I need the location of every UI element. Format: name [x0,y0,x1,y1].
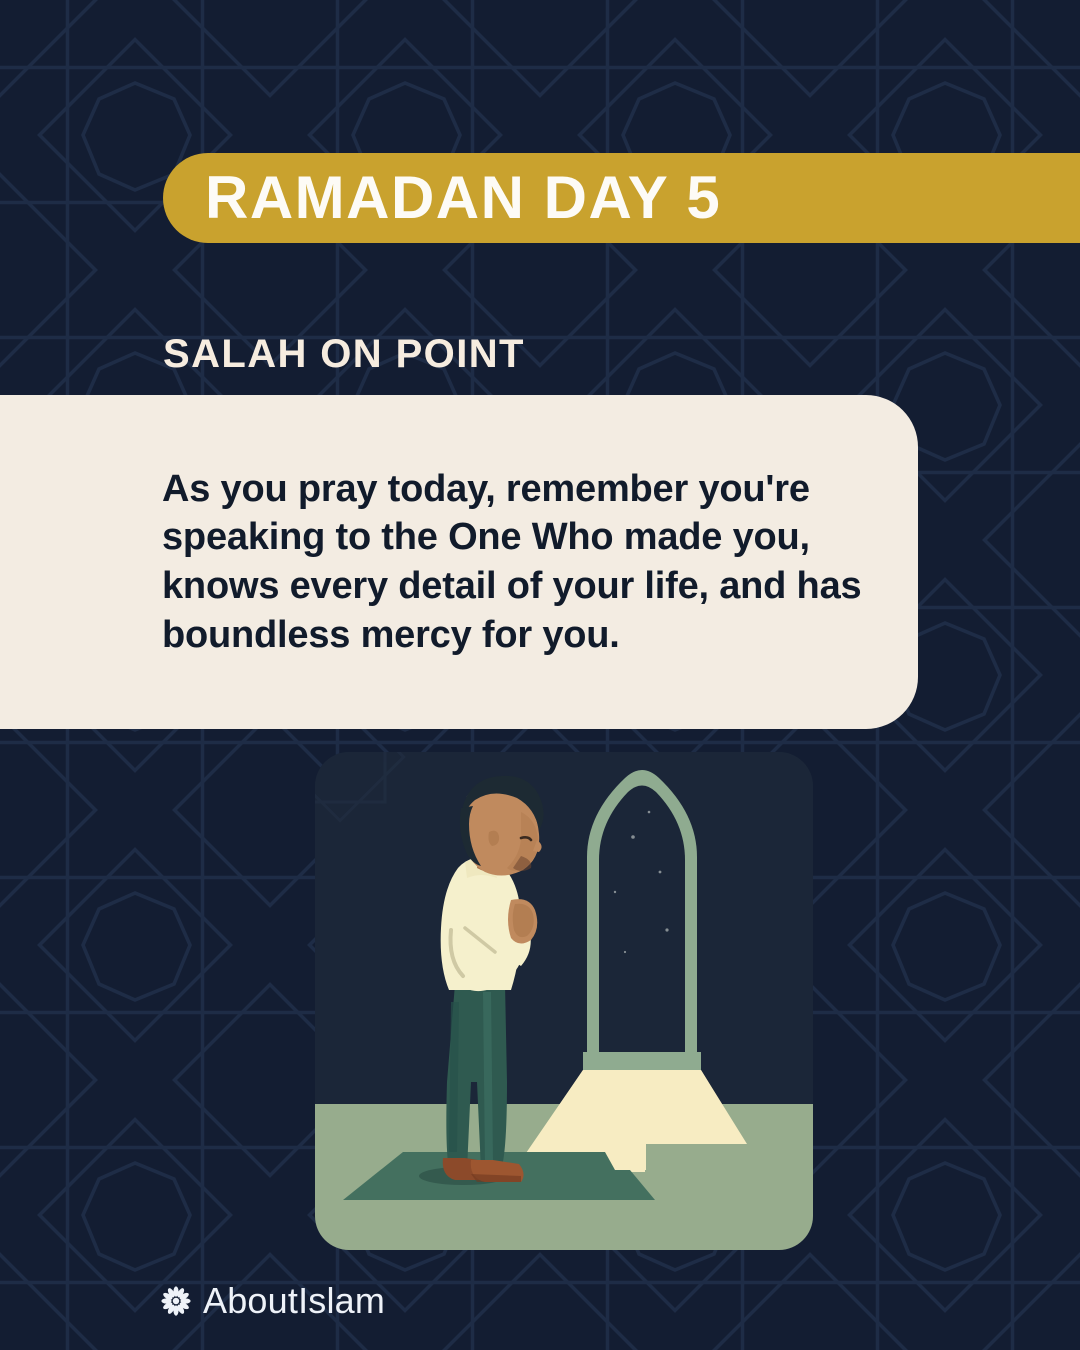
poster-canvas: RAMADAN DAY 5 SALAH ON POINT As you pray… [0,0,1080,1350]
message-text: As you pray today, remember you're speak… [0,465,918,660]
ramadan-day-banner: RAMADAN DAY 5 [163,153,1080,243]
page-subtitle: SALAH ON POINT [163,334,525,374]
prayer-illustration [315,752,813,1250]
message-card: As you pray today, remember you're speak… [0,395,918,729]
brand-logo[interactable]: AboutIslam [157,1282,385,1320]
banner-title: RAMADAN DAY 5 [163,168,721,228]
brand-name: AboutIslam [203,1283,385,1319]
rosette-icon [157,1282,195,1320]
